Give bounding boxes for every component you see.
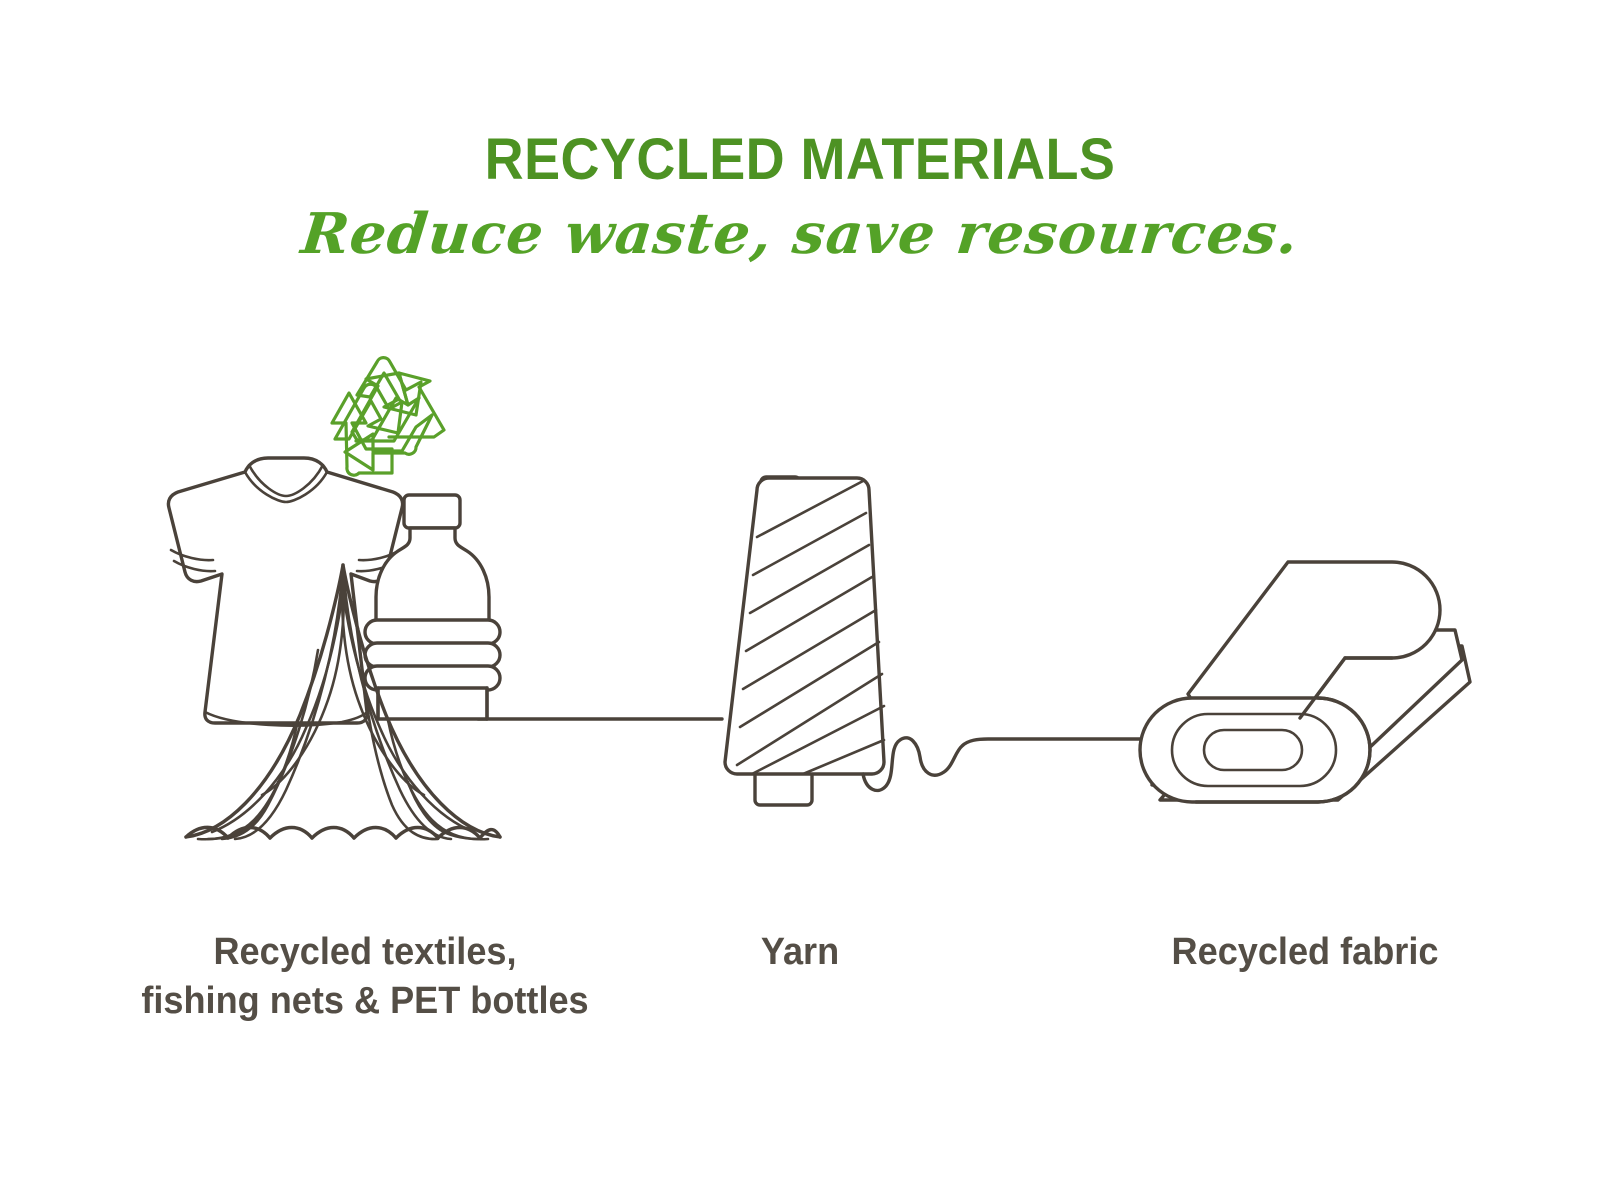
diagram-artwork bbox=[0, 0, 1600, 1200]
folded-fabric-icon bbox=[1140, 562, 1470, 802]
yarn-spool-icon bbox=[725, 477, 884, 805]
infographic-canvas: RECYCLED MATERIALS Reduce waste, save re… bbox=[0, 0, 1600, 1200]
connector-yarn-to-fabric bbox=[863, 738, 1172, 791]
recycle-symbol-icon bbox=[326, 357, 444, 475]
